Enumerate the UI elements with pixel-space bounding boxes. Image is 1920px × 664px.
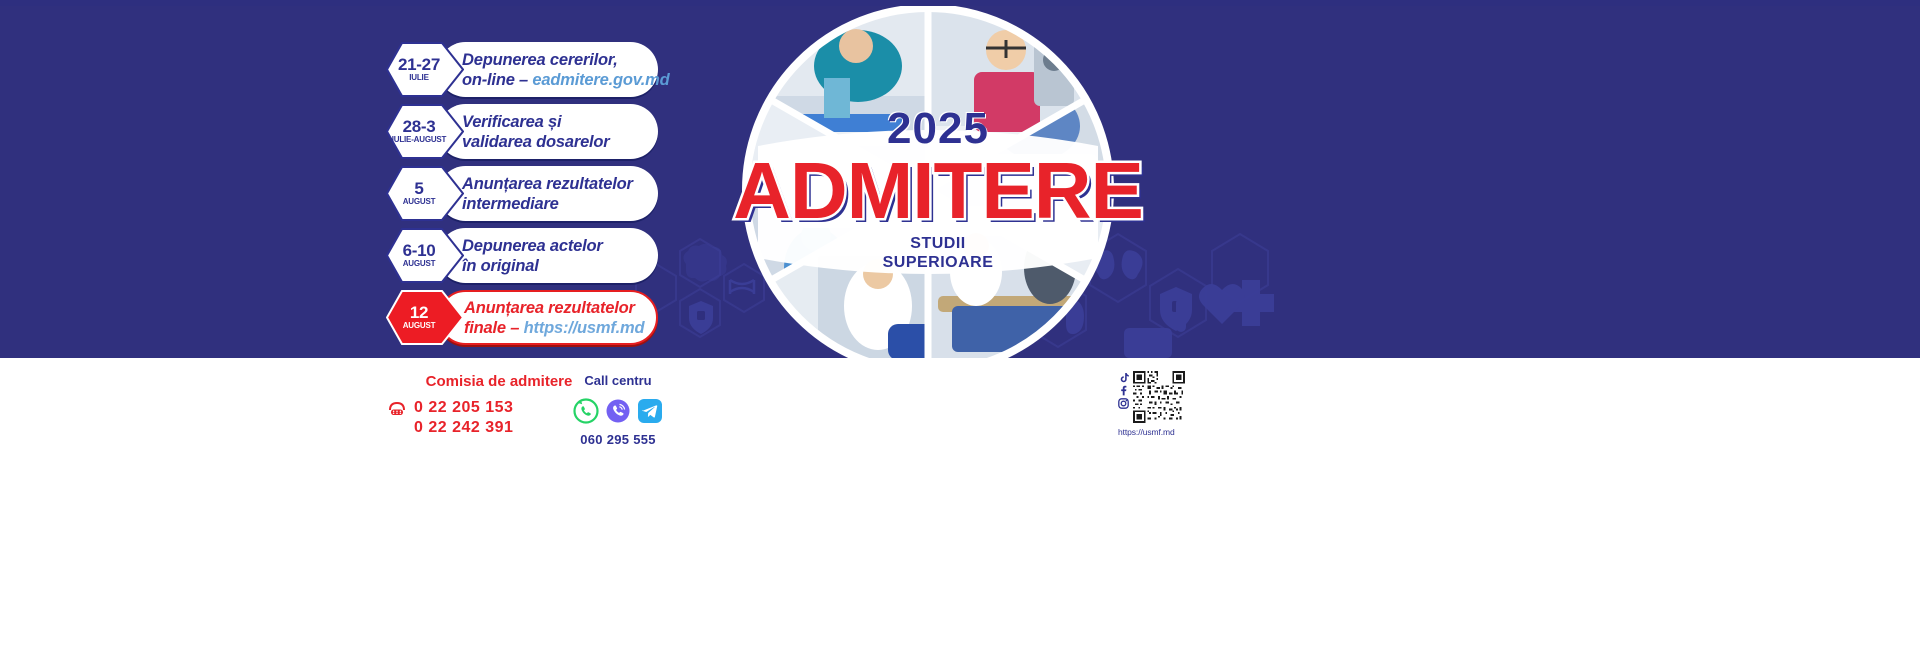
- admission-banner: 21-27 IULIE Depunerea cererilor, on-line…: [0, 6, 1920, 358]
- timeline-line2-prefix: on-line –: [462, 71, 532, 89]
- qr-social-row: [1118, 371, 1208, 423]
- social-icon-column: [1118, 371, 1129, 423]
- commission-phone-2: 0 22 242 391: [414, 419, 513, 437]
- timeline-label: Anunțarea rezultatelor intermediare: [438, 166, 658, 221]
- date-badge: [386, 290, 464, 345]
- instagram-icon[interactable]: [1118, 398, 1129, 409]
- viber-icon[interactable]: [605, 398, 631, 424]
- timeline-line1: Anunțarea rezultatelor: [464, 298, 656, 318]
- timeline-line2-prefix: finale –: [464, 319, 524, 337]
- qr-code[interactable]: [1133, 371, 1185, 423]
- logo-subtitle-line1: STUDII: [718, 234, 1158, 253]
- timeline-row-final[interactable]: 12 AUGUST Anunțarea rezultatelor finale …: [386, 290, 676, 345]
- timeline-label: Verificarea și validarea dosarelor: [438, 104, 658, 159]
- timeline-line1: Anunțarea rezultatelor: [462, 174, 658, 194]
- timeline-row[interactable]: 21-27 IULIE Depunerea cererilor, on-line…: [386, 42, 676, 97]
- timeline-line2-prefix: intermediare: [462, 195, 559, 213]
- whatsapp-icon[interactable]: [573, 398, 599, 424]
- timeline-row[interactable]: 5 AUGUST Anunțarea rezultatelor intermed…: [386, 166, 676, 221]
- timeline-row[interactable]: 6-10 AUGUST Depunerea actelor în origina…: [386, 228, 676, 283]
- timeline-link[interactable]: eadmitere.gov.md: [532, 71, 669, 89]
- telephone-icon: [388, 401, 406, 415]
- qr-url[interactable]: https://usmf.md: [1118, 427, 1208, 437]
- call-center-block: Call centru: [556, 372, 680, 447]
- timeline-link[interactable]: https://usmf.md: [524, 319, 645, 337]
- tiktok-icon[interactable]: [1118, 372, 1129, 383]
- date-badge: [386, 166, 464, 221]
- timeline-line1: Verificarea și: [462, 112, 658, 132]
- timeline-line1: Depunerea actelor: [462, 236, 658, 256]
- logo-subtitle-line2: SUPERIOARE: [718, 253, 1158, 272]
- timeline-line2: intermediare: [462, 194, 658, 214]
- timeline-label: Depunerea actelor în original: [438, 228, 658, 283]
- footer-contacts: Comisia de admitere 0 22 205 153: [0, 358, 1920, 664]
- qr-social-block: https://usmf.md: [1118, 371, 1208, 437]
- date-badge: [386, 228, 464, 283]
- timeline-label: Depunerea cererilor, on-line – eadmitere…: [438, 42, 658, 97]
- call-center-number: 060 295 555: [556, 432, 680, 447]
- timeline-line2-prefix: validarea dosarelor: [462, 133, 610, 151]
- logo-subtitle: STUDII SUPERIOARE: [718, 234, 1158, 272]
- logo-title: ADMITERE: [718, 152, 1158, 230]
- messenger-icons: [556, 398, 680, 424]
- timeline-line2: on-line – eadmitere.gov.md: [462, 70, 658, 90]
- banner-page: 21-27 IULIE Depunerea cererilor, on-line…: [0, 0, 1920, 664]
- timeline-line2-prefix: în original: [462, 257, 539, 275]
- admission-logo: 2025 ADMITERE ADMITERE STUDII SUPERIOARE: [718, 106, 1158, 272]
- timeline-line2: în original: [462, 256, 658, 276]
- facebook-icon[interactable]: [1118, 385, 1129, 396]
- timeline-line2: validarea dosarelor: [462, 132, 658, 152]
- timeline-row[interactable]: 28-3 IULIE-AUGUST Verificarea și validar…: [386, 104, 676, 159]
- timeline-line2: finale – https://usmf.md: [464, 318, 656, 338]
- date-badge: [386, 42, 464, 97]
- commission-phone-1: 0 22 205 153: [414, 399, 513, 417]
- admission-timeline: 21-27 IULIE Depunerea cererilor, on-line…: [386, 42, 676, 352]
- timeline-label: Anunțarea rezultatelor finale – https://…: [438, 290, 658, 345]
- date-badge: [386, 104, 464, 159]
- call-center-title: Call centru: [556, 372, 680, 390]
- telegram-icon[interactable]: [637, 398, 663, 424]
- timeline-line1: Depunerea cererilor,: [462, 50, 658, 70]
